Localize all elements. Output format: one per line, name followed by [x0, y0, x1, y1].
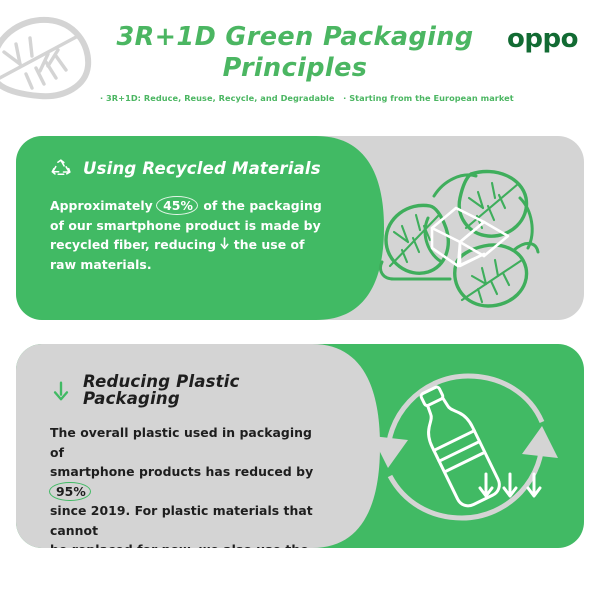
leaf-icon — [0, 8, 104, 108]
card-1-body-p4: recycled fiber, reducing — [50, 237, 220, 252]
card-1-body-p1: Approximately — [50, 198, 157, 213]
card-2-body-p4: be replaced for now, we also use the — [50, 542, 309, 548]
card-2-heading: Reducing Plastic Packaging — [50, 374, 322, 407]
card-2-heading-text: Reducing Plastic Packaging — [83, 374, 322, 407]
infographic-page: 3R+1D Green Packaging Principles · 3R+1D… — [0, 0, 600, 600]
card-1-body-p6: raw materials. — [50, 257, 152, 272]
card-1-stat-value: 45% — [163, 198, 193, 213]
bottle-in-recycle-loop-with-down-arrows-icon — [346, 344, 584, 548]
page-title: 3R+1D Green Packaging Principles — [100, 22, 490, 84]
card-reducing-plastic-packaging: Reducing Plastic Packaging The overall p… — [16, 344, 584, 548]
three-leaves-recycle-triangle-with-box-icon — [346, 136, 584, 320]
card-2-stat-chip: 95% — [50, 482, 92, 502]
card-1-illustration — [346, 136, 584, 320]
card-2-stat-value: 95% — [56, 484, 86, 499]
oppo-logo: oppo — [507, 26, 578, 52]
down-arrow-icon — [50, 380, 72, 402]
card-1-body-p5: the use of — [229, 237, 304, 252]
card-2-illustration — [346, 344, 584, 548]
card-2-body: The overall plastic used in packaging of… — [50, 423, 322, 548]
card-1-heading: Using Recycled Materials — [50, 158, 322, 180]
card-1-text-column: Using Recycled Materials Approximately 4… — [16, 136, 346, 320]
card-1-heading-text: Using Recycled Materials — [83, 161, 321, 178]
card-2-body-p1: The overall plastic used in packaging of — [50, 425, 312, 460]
leaf-bottom — [455, 245, 527, 306]
recycle-icon — [50, 158, 72, 180]
title-block: 3R+1D Green Packaging Principles — [100, 22, 490, 84]
card-1-body-p3: of our smartphone product is made by — [50, 218, 321, 233]
card-1-body: Approximately 45% of the packaging of ou… — [50, 196, 322, 274]
card-1-body-p2: of the packaging — [199, 198, 322, 213]
card-2-body-p2: smartphone products has reduced by — [50, 464, 313, 479]
header: 3R+1D Green Packaging Principles · 3R+1D… — [0, 0, 600, 120]
page-subtitle: · 3R+1D: Reduce, Reuse, Recycle, and Deg… — [100, 93, 500, 103]
card-2-text-column: Reducing Plastic Packaging The overall p… — [16, 344, 346, 548]
leaf-left — [386, 205, 448, 273]
card-1-stat-chip: 45% — [157, 196, 199, 216]
card-using-recycled-materials: Using Recycled Materials Approximately 4… — [16, 136, 584, 320]
card-2-body-p3: since 2019. For plastic materials that c… — [50, 503, 313, 538]
